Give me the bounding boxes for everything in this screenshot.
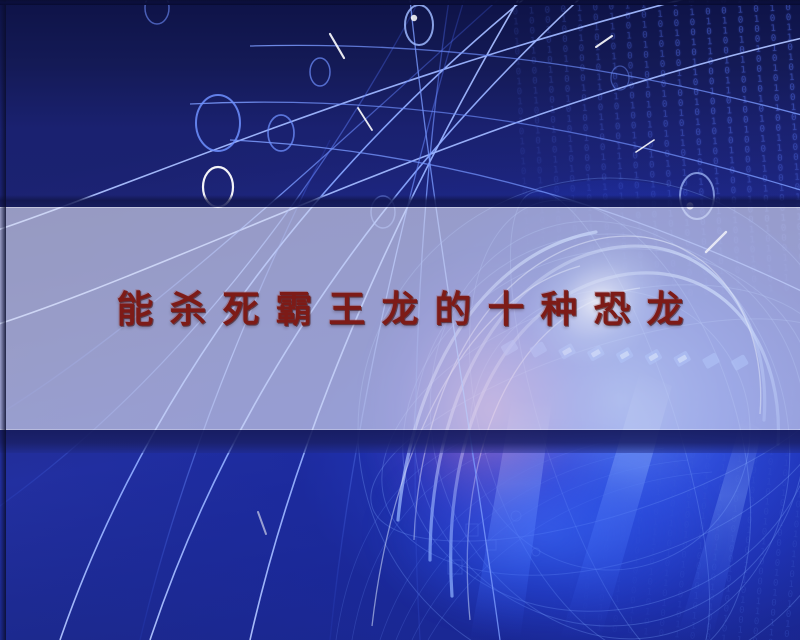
page-title: 能杀死霸王龙的十种恐龙 xyxy=(101,288,700,332)
title-container: 能杀死霸王龙的十种恐龙 xyxy=(0,288,800,332)
slide-canvas: 0 1 0 0 1 0 0 1 1 0 0 0 1 0 1 1 0 0 1 0 … xyxy=(0,0,800,640)
